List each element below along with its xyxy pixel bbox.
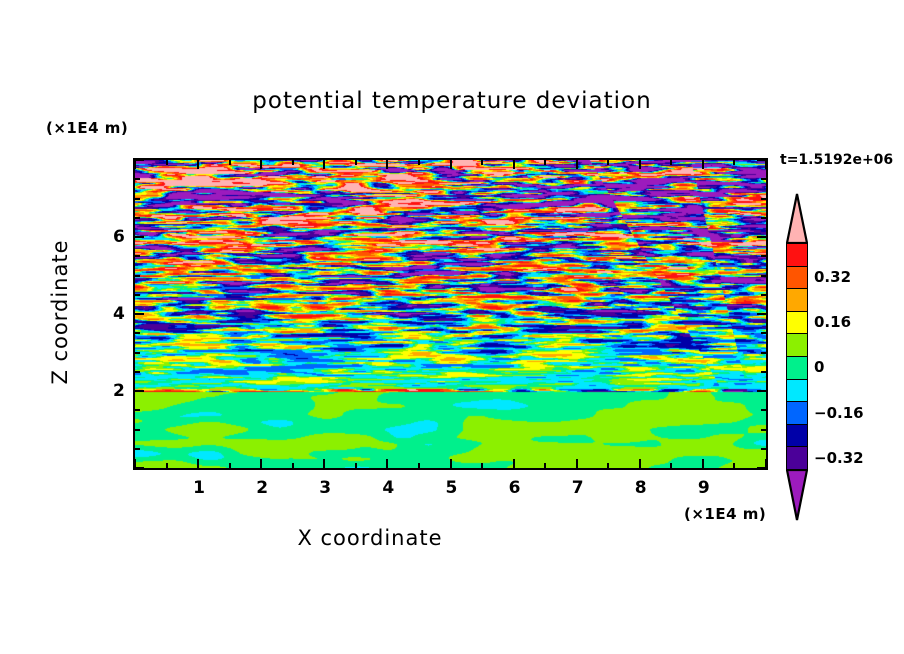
- x-tick: [639, 459, 641, 468]
- y-tick: [761, 448, 766, 450]
- x-tick: [197, 459, 199, 468]
- y-tick: [135, 371, 140, 373]
- x-axis-unit-label: (×1E4 m): [684, 505, 766, 523]
- x-tick: [292, 463, 294, 468]
- x-tick-label: 1: [193, 478, 205, 498]
- y-tick: [761, 198, 766, 200]
- x-tick-label: 5: [446, 478, 458, 498]
- contour-field-canvas: [135, 160, 766, 468]
- y-tick: [757, 159, 766, 161]
- x-tick: [323, 160, 325, 169]
- y-tick: [757, 313, 766, 315]
- y-tick: [761, 178, 766, 180]
- y-tick: [135, 313, 144, 315]
- x-tick: [733, 463, 735, 468]
- x-tick: [765, 160, 767, 169]
- x-tick: [386, 160, 388, 169]
- x-tick-label: 9: [698, 478, 710, 498]
- x-tick: [418, 160, 420, 165]
- y-tick-label: 6: [113, 227, 125, 247]
- x-tick: [513, 459, 515, 468]
- colorbar-tick-label: −0.32: [814, 449, 864, 467]
- page-title: potential temperature deviation: [0, 88, 904, 114]
- x-tick-label: 2: [256, 478, 268, 498]
- y-tick: [135, 390, 144, 392]
- y-tick: [761, 255, 766, 257]
- x-tick: [292, 160, 294, 165]
- y-tick: [757, 236, 766, 238]
- x-tick: [355, 160, 357, 165]
- x-tick: [323, 459, 325, 468]
- x-axis-title: X coordinate: [0, 526, 740, 550]
- x-tick: [544, 160, 546, 165]
- x-tick-label: 7: [572, 478, 584, 498]
- colorbar-tick-label: 0.32: [814, 268, 851, 286]
- x-tick: [576, 160, 578, 169]
- x-tick: [544, 463, 546, 468]
- y-tick: [757, 390, 766, 392]
- x-tick: [670, 160, 672, 165]
- y-tick: [135, 448, 140, 450]
- z-axis-unit-label: (×1E4 m): [46, 119, 128, 137]
- y-tick-label: 4: [113, 304, 125, 324]
- y-tick: [135, 198, 140, 200]
- x-tick: [355, 463, 357, 468]
- y-tick: [761, 294, 766, 296]
- y-tick-label: 2: [113, 381, 125, 401]
- y-tick: [135, 178, 140, 180]
- x-tick: [481, 463, 483, 468]
- x-tick: [260, 459, 262, 468]
- y-tick: [135, 352, 140, 354]
- x-tick: [386, 459, 388, 468]
- y-tick: [761, 371, 766, 373]
- x-tick: [166, 160, 168, 165]
- x-tick-label: 3: [319, 478, 331, 498]
- y-tick: [761, 352, 766, 354]
- x-tick-label: 8: [635, 478, 647, 498]
- colorbar-tick-label: 0.16: [814, 313, 851, 331]
- x-tick: [166, 463, 168, 468]
- y-tick: [135, 294, 140, 296]
- y-axis-title: Z coordinate: [48, 217, 72, 407]
- y-tick: [761, 429, 766, 431]
- x-tick: [450, 160, 452, 169]
- y-tick: [135, 467, 144, 469]
- x-tick: [513, 160, 515, 169]
- x-tick-label: 4: [382, 478, 394, 498]
- x-tick: [229, 160, 231, 165]
- y-tick: [135, 217, 140, 219]
- x-tick: [229, 463, 231, 468]
- time-annotation: t=1.5192e+06: [780, 152, 893, 168]
- x-tick: [418, 463, 420, 468]
- y-tick: [135, 332, 140, 334]
- colorbar-tick-labels: 0.320.160−0.16−0.32: [786, 193, 904, 520]
- x-tick: [733, 160, 735, 165]
- y-tick: [135, 409, 140, 411]
- x-tick: [670, 463, 672, 468]
- x-tick: [134, 160, 136, 169]
- y-tick: [135, 236, 144, 238]
- x-tick: [702, 160, 704, 169]
- x-tick: [639, 160, 641, 169]
- x-tick: [481, 160, 483, 165]
- y-tick: [761, 332, 766, 334]
- x-tick: [576, 459, 578, 468]
- y-tick: [761, 409, 766, 411]
- y-tick: [135, 255, 140, 257]
- y-tick: [135, 159, 144, 161]
- colorbar-tick-label: −0.16: [814, 404, 864, 422]
- x-tick: [702, 459, 704, 468]
- x-tick: [260, 160, 262, 169]
- y-tick: [135, 275, 140, 277]
- contour-plot-area: [133, 158, 768, 470]
- y-tick: [761, 217, 766, 219]
- x-tick: [450, 459, 452, 468]
- x-tick: [607, 160, 609, 165]
- x-tick: [607, 463, 609, 468]
- colorbar-tick-label: 0: [814, 358, 824, 376]
- x-tick-label: 6: [509, 478, 521, 498]
- x-tick: [197, 160, 199, 169]
- y-tick: [135, 429, 140, 431]
- y-tick: [757, 467, 766, 469]
- y-tick: [761, 275, 766, 277]
